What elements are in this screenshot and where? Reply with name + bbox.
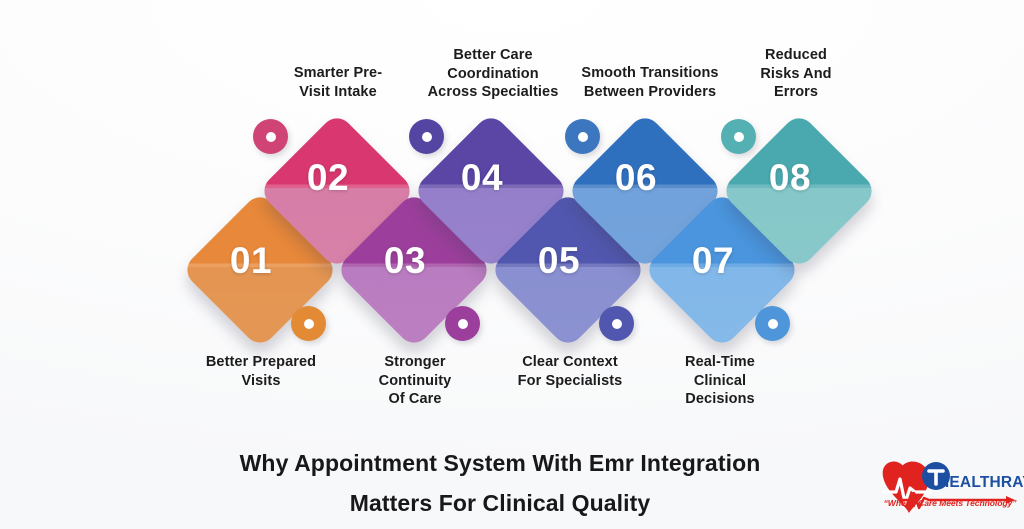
logo-brand-name: HEALTHRAY <box>938 474 1024 492</box>
healthray-logo[interactable]: HEALTHRAY “Where, Care Meets Technology” <box>874 448 1020 524</box>
step-label-04-line-3: Across Specialties <box>406 83 580 102</box>
step-label-01-line-2: Visits <box>176 372 346 391</box>
step-label-01: Better Prepared Visits <box>176 353 346 390</box>
step-dot-01-core <box>304 319 314 329</box>
step-label-03-line-3: Of Care <box>347 390 483 409</box>
step-dot-04-core <box>422 132 432 142</box>
step-dot-05-core <box>612 319 622 329</box>
infographic-canvas: 01 Better Prepared Visits 02 Smarter Pre… <box>0 0 1024 529</box>
step-label-08-line-1: Reduced <box>731 46 861 65</box>
step-dot-06[interactable] <box>565 119 600 154</box>
step-label-08: Reduced Risks And Errors <box>731 46 861 102</box>
step-label-06: Smooth Transitions Between Providers <box>558 64 742 101</box>
step-label-07-line-3: Decisions <box>655 390 785 409</box>
step-label-06-line-2: Between Providers <box>558 83 742 102</box>
step-dot-07[interactable] <box>755 306 790 341</box>
step-label-05-line-1: Clear Context <box>497 353 643 372</box>
step-label-04-line-2: Coordination <box>406 65 580 84</box>
step-dot-03-core <box>458 319 468 329</box>
step-label-06-line-1: Smooth Transitions <box>558 64 742 83</box>
step-dot-02[interactable] <box>253 119 288 154</box>
step-label-05-line-2: For Specialists <box>497 372 643 391</box>
logo-tagline: “Where, Care Meets Technology” <box>880 498 1020 508</box>
step-label-05: Clear Context For Specialists <box>497 353 643 390</box>
step-label-02-line-1: Smarter Pre- <box>262 64 414 83</box>
step-dot-08[interactable] <box>721 119 756 154</box>
step-label-02: Smarter Pre- Visit Intake <box>262 64 414 101</box>
step-label-07: Real-Time Clinical Decisions <box>655 353 785 409</box>
step-dot-02-core <box>266 132 276 142</box>
step-label-02-line-2: Visit Intake <box>262 83 414 102</box>
page-title-line-1: Why Appointment System With Emr Integrat… <box>240 450 761 476</box>
page-title-line-2: Matters For Clinical Quality <box>150 484 850 524</box>
step-label-07-line-2: Clinical <box>655 372 785 391</box>
step-label-03-line-2: Continuity <box>347 372 483 391</box>
step-label-03: Stronger Continuity Of Care <box>347 353 483 409</box>
step-dot-04[interactable] <box>409 119 444 154</box>
page-title: Why Appointment System With Emr Integrat… <box>150 444 850 523</box>
step-label-04: Better Care Coordination Across Specialt… <box>406 46 580 102</box>
step-label-04-line-1: Better Care <box>406 46 580 65</box>
step-label-08-line-2: Risks And <box>731 65 861 84</box>
step-label-01-line-1: Better Prepared <box>176 353 346 372</box>
step-dot-01[interactable] <box>291 306 326 341</box>
step-dot-03[interactable] <box>445 306 480 341</box>
step-label-08-line-3: Errors <box>731 83 861 102</box>
step-dot-07-core <box>768 319 778 329</box>
step-dot-05[interactable] <box>599 306 634 341</box>
step-dot-08-core <box>734 132 744 142</box>
step-dot-06-core <box>578 132 588 142</box>
step-label-07-line-1: Real-Time <box>655 353 785 372</box>
step-label-03-line-1: Stronger <box>347 353 483 372</box>
